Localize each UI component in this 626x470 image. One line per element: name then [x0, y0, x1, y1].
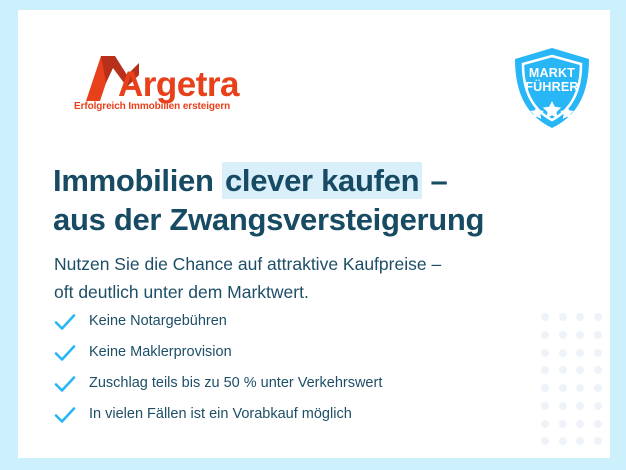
subheadline: Nutzen Sie die Chance auf attraktive Kau… — [54, 250, 554, 306]
check-icon — [54, 313, 76, 331]
shield-badge-icon — [511, 46, 593, 130]
logo-tagline: Erfolgreich Immobilien ersteigern — [74, 101, 230, 112]
promo-banner: Argetra Erfolgreich Immobilien ersteiger… — [0, 0, 626, 470]
check-icon — [54, 344, 76, 362]
dot — [559, 420, 567, 428]
dot — [559, 349, 567, 357]
dot — [576, 402, 584, 410]
dot — [576, 420, 584, 428]
headline-line-1: Immobilien clever kaufen – — [53, 162, 448, 199]
checklist-item: Zuschlag teils bis zu 50 % unter Verkehr… — [54, 368, 524, 399]
subheadline-line-1: Nutzen Sie die Chance auf attraktive Kau… — [54, 254, 441, 274]
dot — [594, 349, 602, 357]
headline-line-2: aus der Zwangsversteigerung — [53, 202, 484, 237]
dot — [576, 437, 584, 445]
dot — [576, 331, 584, 339]
check-icon — [54, 375, 76, 393]
dot — [594, 384, 602, 392]
check-icon — [54, 406, 76, 424]
checklist-item-label: Keine Notargebühren — [89, 314, 227, 329]
dot — [594, 313, 602, 321]
checklist-item: Keine Maklerprovision — [54, 337, 524, 368]
checklist-item-label: In vielen Fällen ist ein Vorabkauf mögli… — [89, 407, 352, 422]
dot — [594, 402, 602, 410]
checklist-item: Keine Notargebühren — [54, 306, 524, 337]
dot — [594, 420, 602, 428]
dot — [576, 313, 584, 321]
dot — [594, 366, 602, 374]
dot — [541, 331, 549, 339]
dot — [541, 349, 549, 357]
dot — [541, 437, 549, 445]
dot — [559, 402, 567, 410]
dot — [541, 420, 549, 428]
dot — [541, 402, 549, 410]
dot — [559, 366, 567, 374]
headline-pre: Immobilien — [53, 163, 222, 198]
dot-grid-decoration — [541, 313, 610, 455]
checklist-item-label: Zuschlag teils bis zu 50 % unter Verkehr… — [89, 376, 382, 391]
dot — [541, 313, 549, 321]
dot — [576, 366, 584, 374]
dot — [559, 331, 567, 339]
market-leader-badge: MARKT FÜHRER — [511, 46, 593, 130]
dot — [541, 366, 549, 374]
dot — [576, 349, 584, 357]
benefits-checklist: Keine NotargebührenKeine Maklerprovision… — [54, 306, 524, 430]
dot — [559, 313, 567, 321]
dot — [559, 384, 567, 392]
banner-card: Argetra Erfolgreich Immobilien ersteiger… — [18, 10, 610, 458]
dot — [541, 384, 549, 392]
argetra-logo[interactable]: Argetra Erfolgreich Immobilien ersteiger… — [73, 53, 263, 115]
checklist-item-label: Keine Maklerprovision — [89, 345, 232, 360]
headline: Immobilien clever kaufen – aus der Zwang… — [53, 161, 553, 239]
dot — [576, 384, 584, 392]
subheadline-line-2: oft deutlich unter dem Marktwert. — [54, 282, 309, 302]
dot — [559, 437, 567, 445]
checklist-item: In vielen Fällen ist ein Vorabkauf mögli… — [54, 399, 524, 430]
dot — [594, 331, 602, 339]
dot — [594, 437, 602, 445]
headline-post: – — [422, 163, 447, 198]
headline-highlight: clever kaufen — [222, 162, 422, 199]
logo-wordmark: Argetra — [118, 67, 239, 102]
